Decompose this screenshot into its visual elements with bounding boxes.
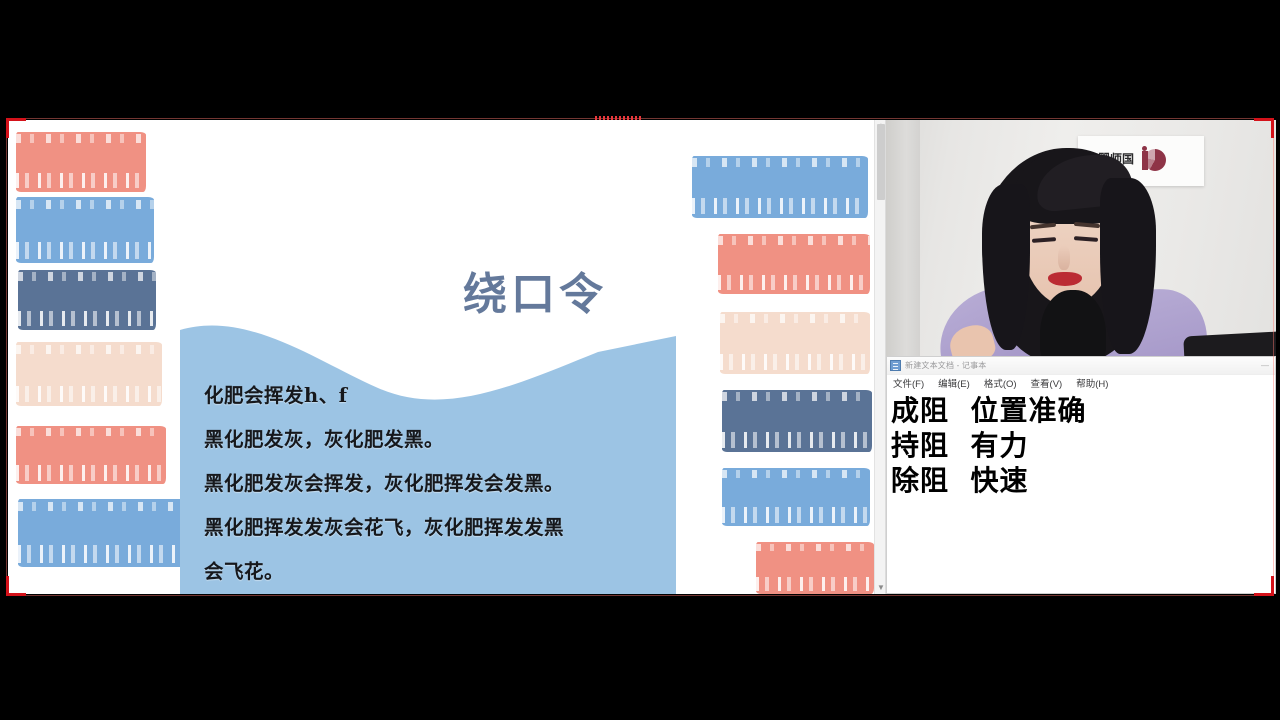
brush-stroke-left-5 — [16, 426, 166, 484]
menu-item-help[interactable]: 帮助(H) — [1076, 376, 1108, 390]
tongue-twister-line-4: 黑化肥挥发发灰会花飞，灰化肥挥发发黑 — [204, 506, 654, 550]
menu-item-file[interactable]: 文件(F) — [893, 376, 924, 390]
nose — [1058, 246, 1070, 270]
notepad-line-2: 持阻 有力 — [891, 428, 1271, 463]
tongue-twister-line-1: 化肥会挥发h、f — [204, 374, 654, 418]
minimize-button[interactable]: — — [1258, 361, 1272, 370]
notepad-window[interactable]: 新建文本文档 - 记事本 — 文件(F) 编辑(E) 格式(O) 查看(V) 帮… — [886, 356, 1276, 594]
screen: 绕口令 化肥会挥发h、f 黑化肥发灰，灰化肥发黑。 黑化肥发灰会挥发，灰化肥挥发… — [0, 0, 1280, 720]
brush-stroke-left-1 — [16, 132, 146, 192]
scroll-down-arrow[interactable]: ▼ — [875, 582, 887, 594]
brush-stroke-right-4 — [722, 390, 872, 452]
slide-scrollbar[interactable]: ▲ ▼ — [874, 120, 886, 594]
notepad-icon — [890, 360, 901, 371]
notepad-title-bar[interactable]: 新建文本文档 - 记事本 — — [887, 357, 1275, 375]
brush-stroke-left-6 — [18, 499, 186, 567]
brush-stroke-right-6 — [756, 542, 874, 594]
brush-stroke-right-3 — [720, 312, 870, 374]
notepad-title-text: 新建文本文档 - 记事本 — [905, 360, 987, 371]
brush-stroke-right-5 — [722, 468, 870, 526]
tongue-twister-line-5: 会飞花。 — [204, 550, 654, 594]
menu-item-edit[interactable]: 编辑(E) — [938, 376, 970, 390]
desk-edge — [1183, 332, 1276, 356]
brush-stroke-left-4 — [16, 342, 162, 406]
tongue-twister-text: 化肥会挥发h、f 黑化肥发灰，灰化肥发黑。 黑化肥发灰会挥发，灰化肥挥发会发黑。… — [204, 374, 654, 594]
capture-tick-marks — [595, 116, 641, 120]
tongue-twister-line-2: 黑化肥发灰，灰化肥发黑。 — [204, 418, 654, 462]
brush-stroke-left-3 — [18, 270, 156, 330]
webcam-video-feed[interactable]: 育婴师国 YUYINGSHIGUO — [886, 120, 1276, 356]
brush-stroke-right-2 — [718, 234, 870, 294]
scrollbar-thumb[interactable] — [877, 124, 885, 200]
brush-stroke-left-2 — [16, 197, 154, 263]
menu-item-format[interactable]: 格式(O) — [984, 376, 1017, 390]
notepad-text-area[interactable]: 成阻 位置准确 持阻 有力 除阻 快速 — [887, 391, 1275, 593]
notepad-menu-bar[interactable]: 文件(F) 编辑(E) 格式(O) 查看(V) 帮助(H) — [887, 375, 1275, 391]
slide-title: 绕口令 — [400, 258, 670, 322]
logo-mark-icon — [1140, 148, 1166, 174]
notepad-line-3: 除阻 快速 — [891, 463, 1271, 498]
door-frame — [886, 120, 920, 356]
brush-stroke-right-1 — [692, 156, 868, 218]
menu-item-view[interactable]: 查看(V) — [1031, 376, 1063, 390]
presentation-slide[interactable]: 绕口令 化肥会挥发h、f 黑化肥发灰，灰化肥发黑。 黑化肥发灰会挥发，灰化肥挥发… — [8, 120, 874, 594]
tongue-twister-line-3: 黑化肥发灰会挥发，灰化肥挥发会发黑。 — [204, 462, 654, 506]
notepad-line-1: 成阻 位置准确 — [891, 393, 1271, 428]
